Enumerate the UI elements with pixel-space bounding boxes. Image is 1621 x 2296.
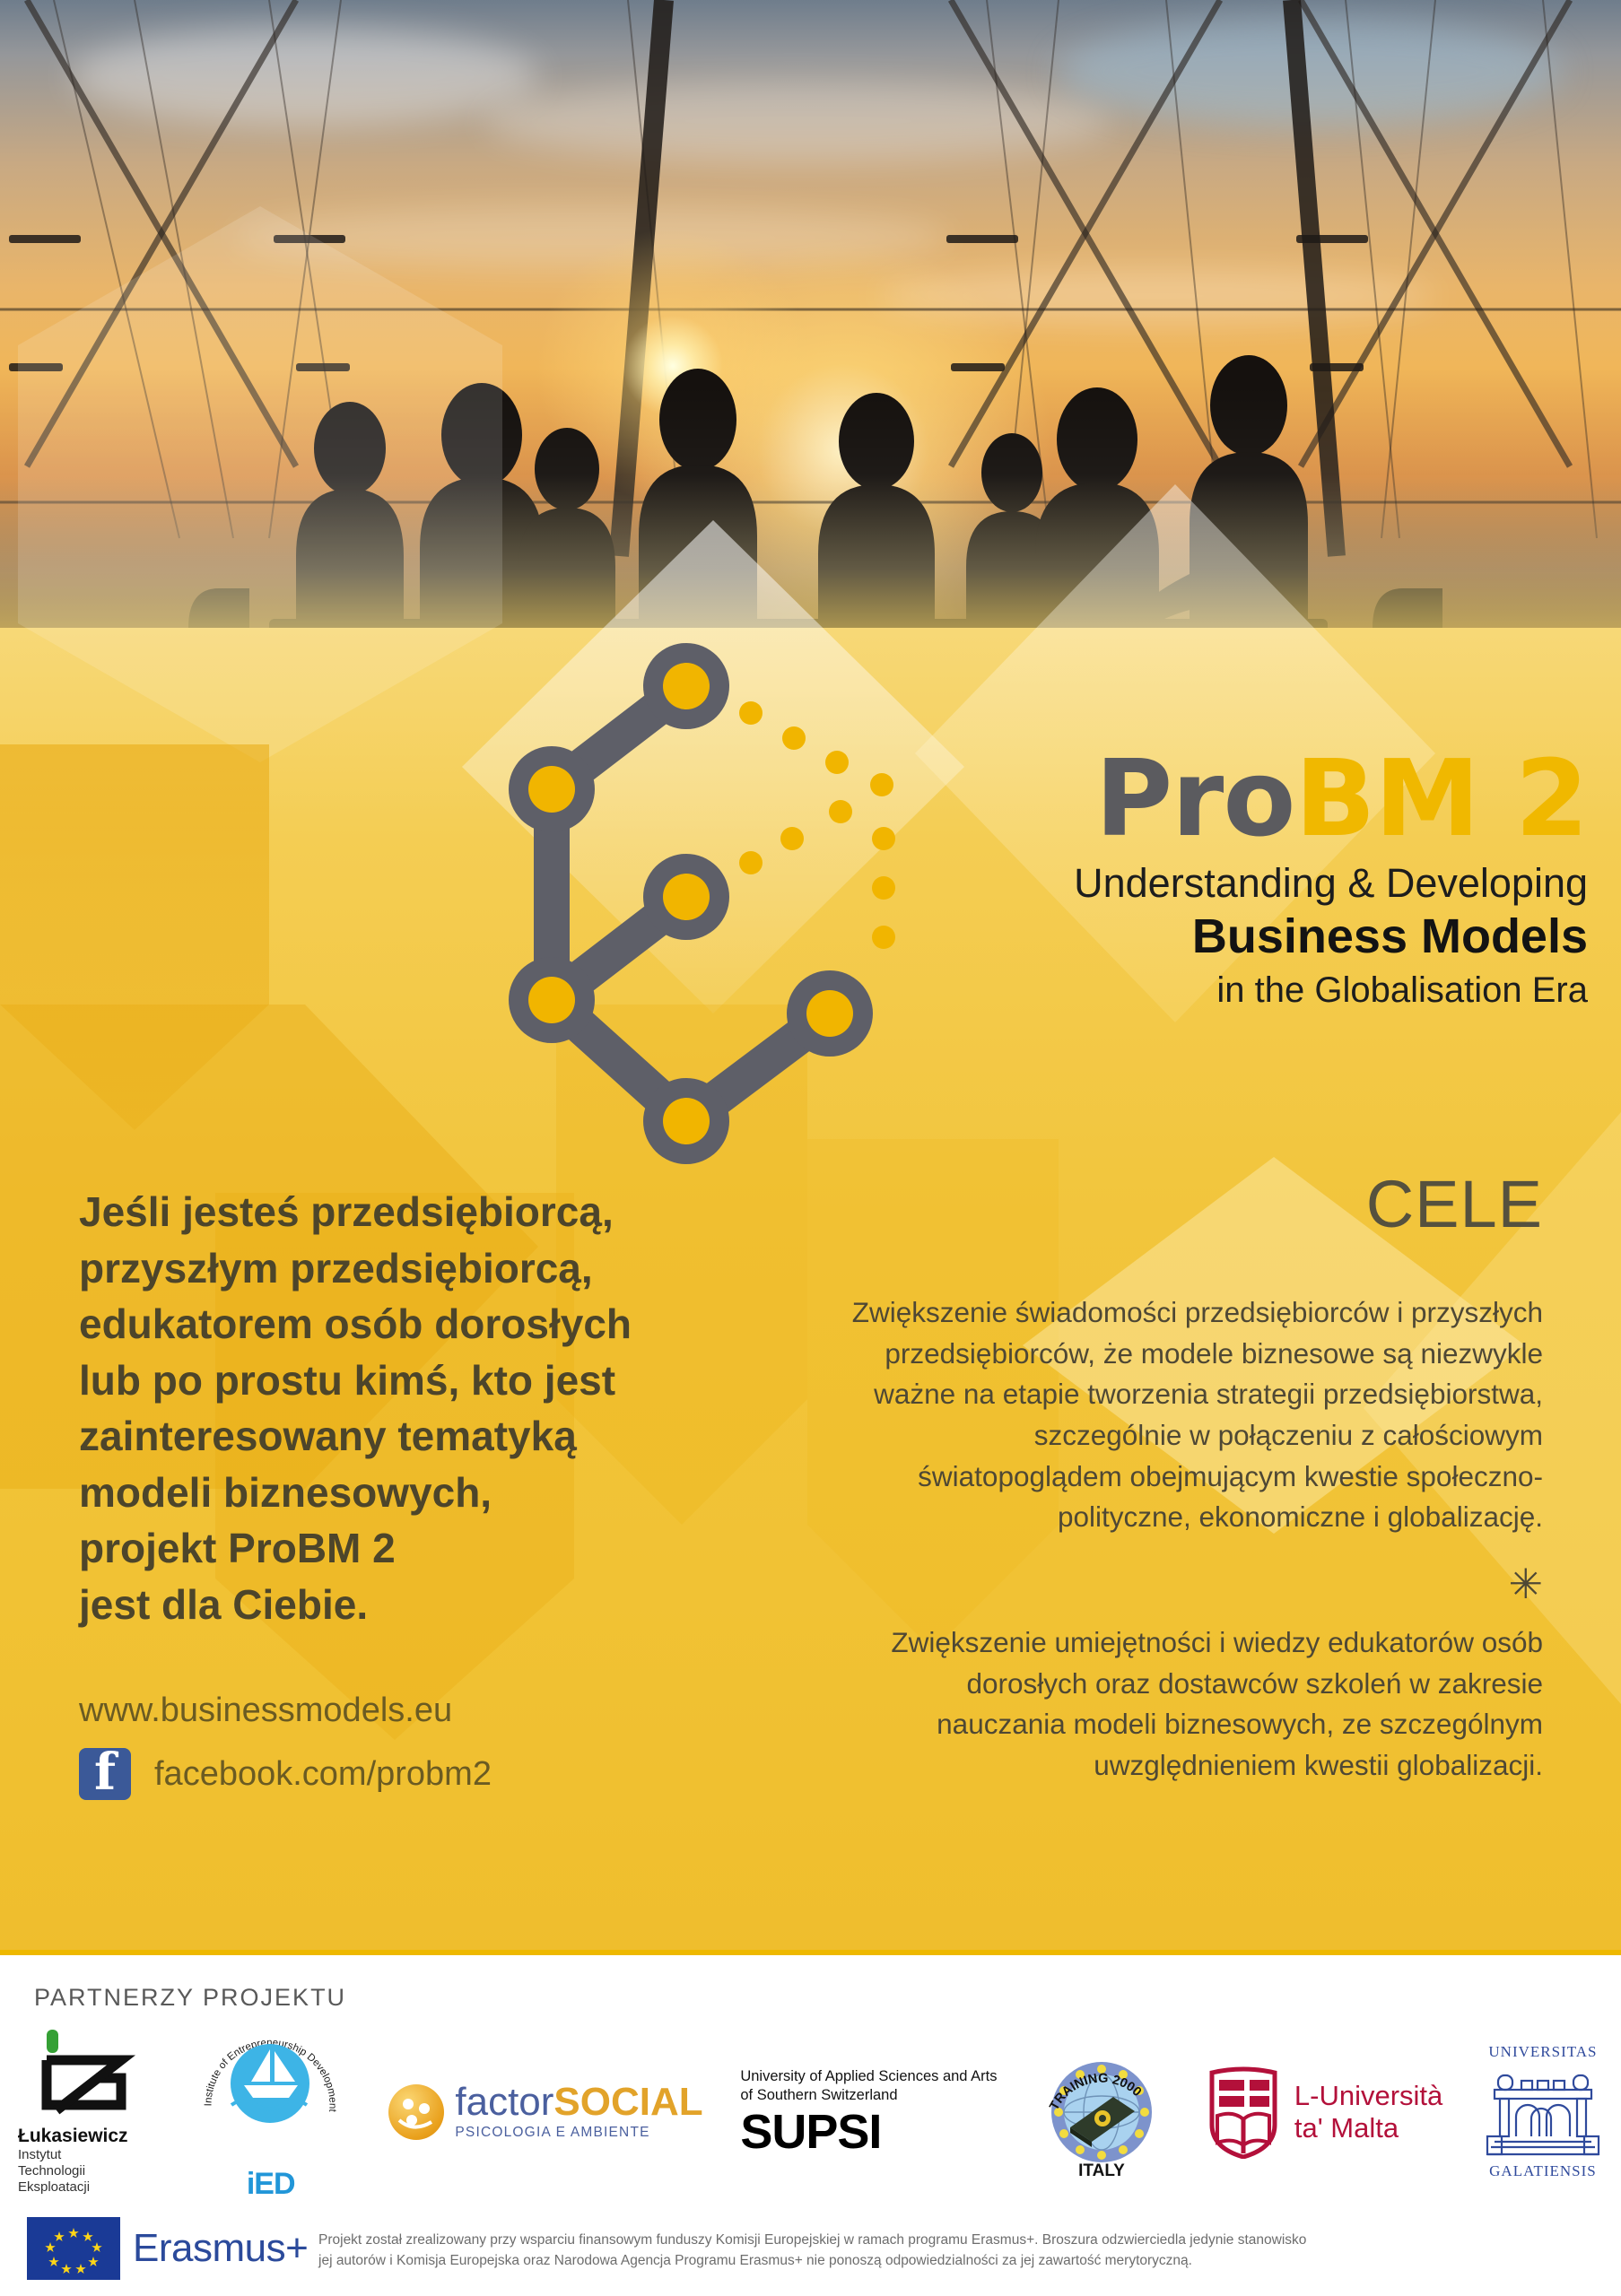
partner-logo-training-2000: TRAINING 2000 ITALY [1034, 2045, 1169, 2179]
malta-shield-icon [1207, 2066, 1280, 2159]
left-column: Jeśli jesteś przedsiębiorcą, przyszłym p… [79, 1184, 761, 1800]
supsi-top-line-2: of Southern Switzerland [740, 2086, 997, 2105]
facebook-link[interactable]: facebook.com/probm2 [154, 1755, 492, 1794]
partner-logo-lukasiewicz: Łukasiewicz Instytut Technologii Eksploa… [18, 2028, 153, 2195]
facebook-row[interactable]: facebook.com/probm2 [79, 1748, 761, 1800]
ied-mark-icon: Institute of Entrepreneurship Developmen… [192, 2022, 349, 2157]
galatiensis-building-icon [1480, 2061, 1606, 2158]
facebook-icon[interactable] [79, 1748, 131, 1800]
ied-acronym: iED [190, 2167, 352, 2202]
factor-social-tagline: PSICOLOGIA E AMBIENTE [455, 2125, 702, 2141]
partners-label: PARTNERZY PROJEKTU [34, 1984, 346, 2012]
factor-social-orb-icon [388, 2084, 444, 2140]
website-link[interactable]: www.businessmodels.eu [79, 1692, 761, 1730]
goal-paragraph-1: Zwiększenie świadomości przedsiębiorców … [834, 1292, 1543, 1538]
subtitle-line-1: Understanding & Developing [942, 861, 1588, 906]
goals-heading: CELE [834, 1166, 1543, 1242]
malta-line-1: L-Università [1294, 2080, 1442, 2112]
galatiensis-top-text: UNIVERSITAS [1480, 2043, 1606, 2061]
brand-pro: Pro [1095, 736, 1295, 860]
galatiensis-bottom-text: GALATIENSIS [1480, 2162, 1606, 2180]
factor-social-wordmark: factorSOCIAL PSICOLOGIA E AMBIENTE [455, 2083, 702, 2141]
pitch-paragraph: Jeśli jesteś przedsiębiorcą, przyszłym p… [79, 1184, 761, 1632]
partner-logo-factor-social: factorSOCIAL PSICOLOGIA E AMBIENTE [388, 2083, 702, 2141]
separator-asterisk-icon: ✳ [834, 1563, 1543, 1605]
disclaimer-text: Projekt został zrealizowany przy wsparci… [318, 2230, 1314, 2272]
factor-word: factor [455, 2080, 553, 2124]
pitch-line: Jeśli jesteś przedsiębiorcą, [79, 1184, 761, 1240]
pitch-line: jest dla Ciebie. [79, 1577, 761, 1633]
social-word: SOCIAL [553, 2080, 702, 2124]
subtitle-line-3: in the Globalisation Era [942, 970, 1588, 1011]
subtitle-line-2: Business Models [942, 910, 1588, 963]
pitch-line: lub po prostu kimś, kto jest [79, 1352, 761, 1409]
pitch-line: projekt ProBM 2 [79, 1520, 761, 1577]
supsi-top-line-1: University of Applied Sciences and Arts [740, 2067, 997, 2086]
probm-network-logo-icon [408, 619, 946, 1175]
partner-logos-row: Łukasiewicz Instytut Technologii Eksploa… [18, 2029, 1606, 2195]
pitch-line: przyszłym przedsiębiorcą, [79, 1240, 761, 1297]
pitch-line: zainteresowany tematyką [79, 1408, 761, 1465]
lukasiewicz-name: Łukasiewicz [18, 2126, 153, 2147]
training-2000-mark-icon: TRAINING 2000 ITALY [1034, 2045, 1169, 2179]
brand-bm: BM 2 [1294, 736, 1588, 860]
erasmus-plus-logo: Erasmus+ [27, 2217, 308, 2280]
title-block: ProBM 2 Understanding & Developing Busin… [942, 744, 1588, 1011]
goal-paragraph-2: Zwiększenie umiejętności i wiedzy edukat… [834, 1622, 1543, 1787]
lukasiewicz-sub-1: Instytut [18, 2147, 153, 2163]
pitch-line: modeli biznesowych, [79, 1465, 761, 1521]
partner-logo-supsi: University of Applied Sciences and Arts … [740, 2067, 997, 2156]
lukasiewicz-sub-3: Eksploatacji [18, 2179, 153, 2196]
malta-line-2: ta' Malta [1294, 2112, 1442, 2144]
right-column: CELE Zwiększenie świadomości przedsiębio… [834, 1166, 1543, 1787]
partner-logo-universitas-galatiensis: UNIVERSITAS [1480, 2043, 1606, 2180]
partner-logo-ied: Institute of Entrepreneurship Developmen… [190, 2022, 352, 2202]
supsi-acronym: SUPSI [740, 2108, 997, 2156]
eu-flag-icon [27, 2217, 120, 2280]
pitch-line: edukatorem osób dorosłych [79, 1296, 761, 1352]
erasmus-wordmark: Erasmus+ [133, 2226, 308, 2271]
partner-logo-university-of-malta: L-Università ta' Malta [1207, 2066, 1442, 2159]
lukasiewicz-sub-2: Technologii [18, 2163, 153, 2179]
training-2000-bottom-text: ITALY [1078, 2161, 1125, 2179]
brand-wordmark: ProBM 2 [942, 744, 1588, 852]
lukasiewicz-mark-icon [31, 2028, 139, 2122]
poster-root: ProBM 2 Understanding & Developing Busin… [0, 0, 1621, 2296]
malta-wordmark: L-Università ta' Malta [1294, 2080, 1442, 2144]
